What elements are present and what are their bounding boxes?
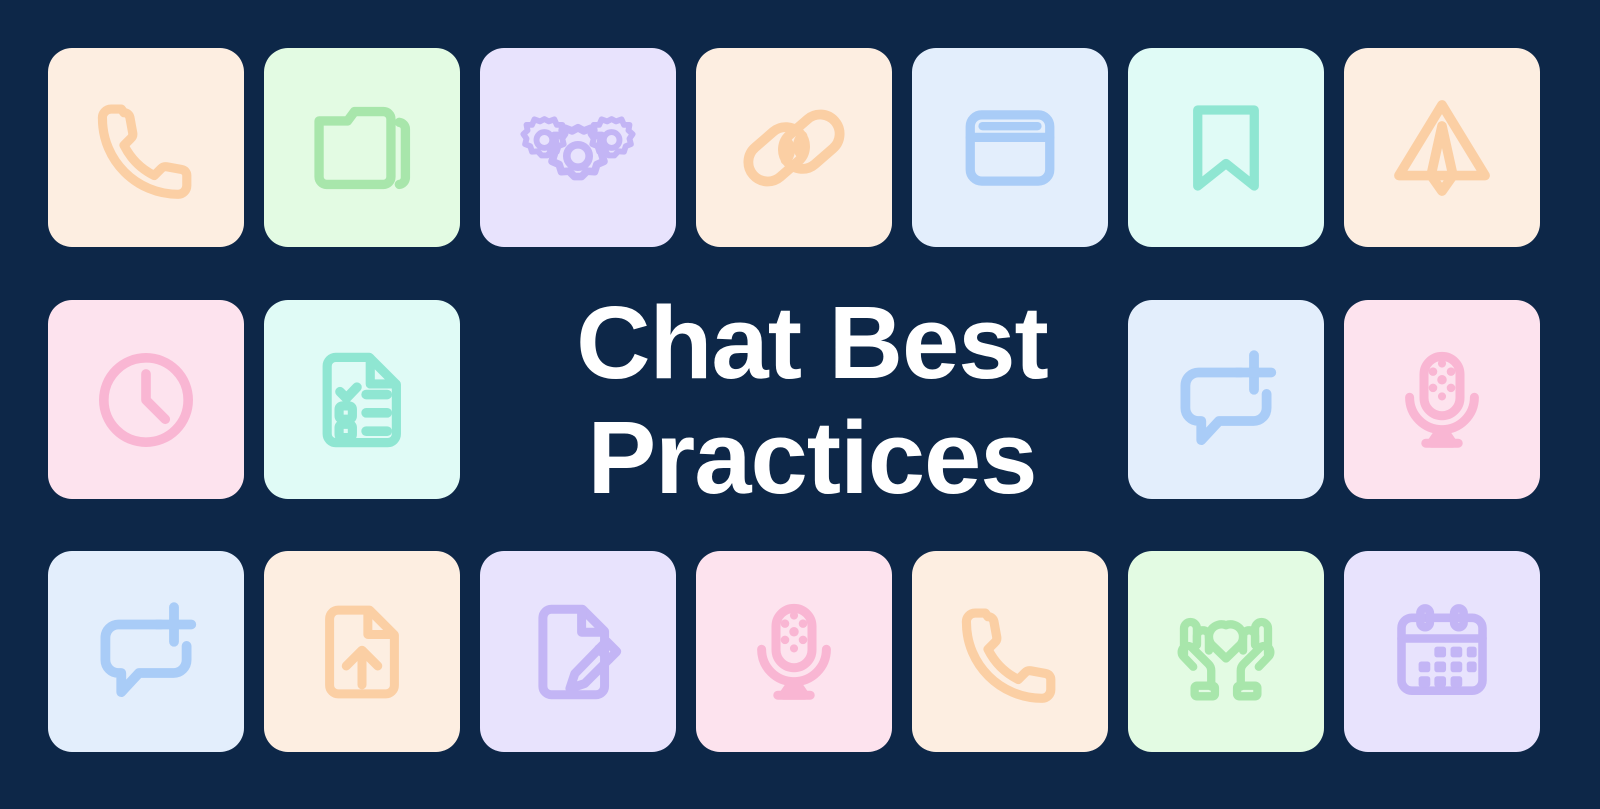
browser-window-icon <box>957 95 1063 201</box>
icon-tile-browser-window[interactable] <box>912 48 1108 247</box>
icon-tile-phone[interactable] <box>48 48 244 247</box>
page-title: Chat Best Practices <box>492 294 1132 506</box>
icon-tile-microphone[interactable] <box>1344 300 1540 499</box>
icon-row-top <box>48 48 1540 247</box>
icon-tile-send[interactable] <box>1344 48 1540 247</box>
chat-add-icon <box>90 596 202 708</box>
phone-icon <box>91 93 201 203</box>
icon-tile-calendar[interactable] <box>1344 551 1540 752</box>
icon-tile-hands-heart[interactable] <box>1128 551 1324 752</box>
icon-tile-gears[interactable] <box>480 48 676 247</box>
checklist-document-icon <box>307 345 417 455</box>
page-title-line-2: Practices <box>587 400 1036 515</box>
chat-best-practices-banner: Chat Best Practices <box>0 0 1600 809</box>
folder-icon <box>306 92 418 204</box>
gears-icon <box>518 92 638 204</box>
icon-tile-bookmark[interactable] <box>1128 48 1324 247</box>
microphone-icon <box>1388 346 1496 454</box>
icon-tile-clock[interactable] <box>48 300 244 499</box>
icon-tile-link[interactable] <box>696 48 892 247</box>
microphone-icon <box>740 598 848 706</box>
icon-tile-file-upload[interactable] <box>264 551 460 752</box>
icon-tile-chat-add[interactable] <box>1128 300 1324 499</box>
clock-icon <box>91 345 201 455</box>
link-icon <box>738 92 850 204</box>
chat-add-icon <box>1170 344 1282 456</box>
hands-heart-icon <box>1166 596 1286 708</box>
send-icon <box>1387 93 1497 203</box>
icon-tile-microphone[interactable] <box>696 551 892 752</box>
icon-tile-folder[interactable] <box>264 48 460 247</box>
calendar-icon <box>1388 598 1496 706</box>
phone-icon <box>955 597 1065 707</box>
icon-tile-phone[interactable] <box>912 551 1108 752</box>
icon-tile-checklist-document[interactable] <box>264 300 460 499</box>
bookmark-icon <box>1173 95 1279 201</box>
icon-tile-document-edit[interactable] <box>480 551 676 752</box>
icon-tile-chat-add[interactable] <box>48 551 244 752</box>
icon-row-bottom <box>48 551 1540 752</box>
file-upload-icon <box>308 598 416 706</box>
document-edit-icon <box>524 598 632 706</box>
page-title-line-1: Chat Best <box>576 285 1048 400</box>
